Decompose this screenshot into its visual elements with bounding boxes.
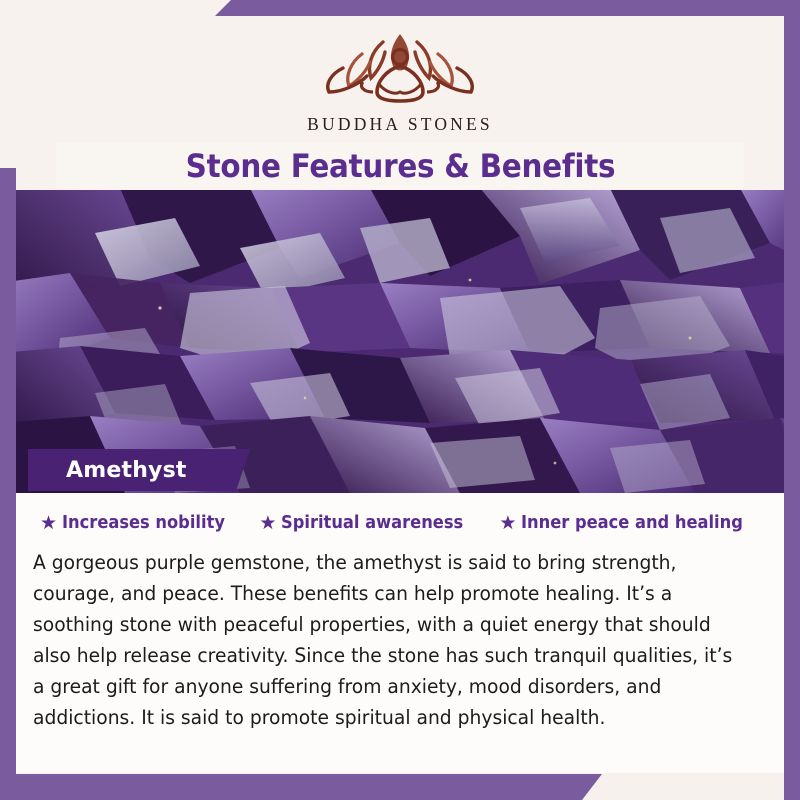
stone-name-banner: Amethyst bbox=[28, 449, 250, 491]
brand-logo: BUDDHA STONES bbox=[307, 22, 493, 135]
title-band: Stone Features & Benefits bbox=[56, 143, 744, 189]
star-icon: ★ bbox=[499, 514, 516, 533]
frame-bottom-bar bbox=[0, 774, 602, 800]
benefit-label: Inner peace and healing bbox=[521, 513, 743, 533]
frame-right-bar bbox=[784, 0, 800, 800]
stone-description: A gorgeous purple gemstone, the amethyst… bbox=[33, 547, 734, 733]
star-icon: ★ bbox=[259, 514, 276, 533]
star-icon: ★ bbox=[40, 514, 57, 533]
frame-left-bar bbox=[0, 168, 16, 800]
benefit-label: Spiritual awareness bbox=[281, 513, 463, 533]
benefits-list: ★ Increases nobility ★ Spiritual awarene… bbox=[0, 493, 800, 533]
benefit-item: ★ Inner peace and healing bbox=[499, 513, 760, 533]
content-panel: ★ Increases nobility ★ Spiritual awarene… bbox=[0, 493, 800, 773]
frame-top-bar bbox=[215, 0, 800, 16]
lotus-meditation-figure-logo-icon bbox=[315, 22, 485, 110]
amethyst-photo bbox=[0, 188, 800, 493]
benefit-item: ★ Spiritual awareness bbox=[259, 513, 477, 533]
benefit-label: Increases nobility bbox=[62, 513, 225, 533]
page-title: Stone Features & Benefits bbox=[185, 147, 615, 185]
benefit-item: ★ Increases nobility bbox=[40, 513, 237, 533]
stone-name: Amethyst bbox=[66, 458, 187, 483]
amethyst-crystal-cluster-graphic bbox=[0, 188, 800, 493]
brand-name: BUDDHA STONES bbox=[307, 114, 493, 135]
